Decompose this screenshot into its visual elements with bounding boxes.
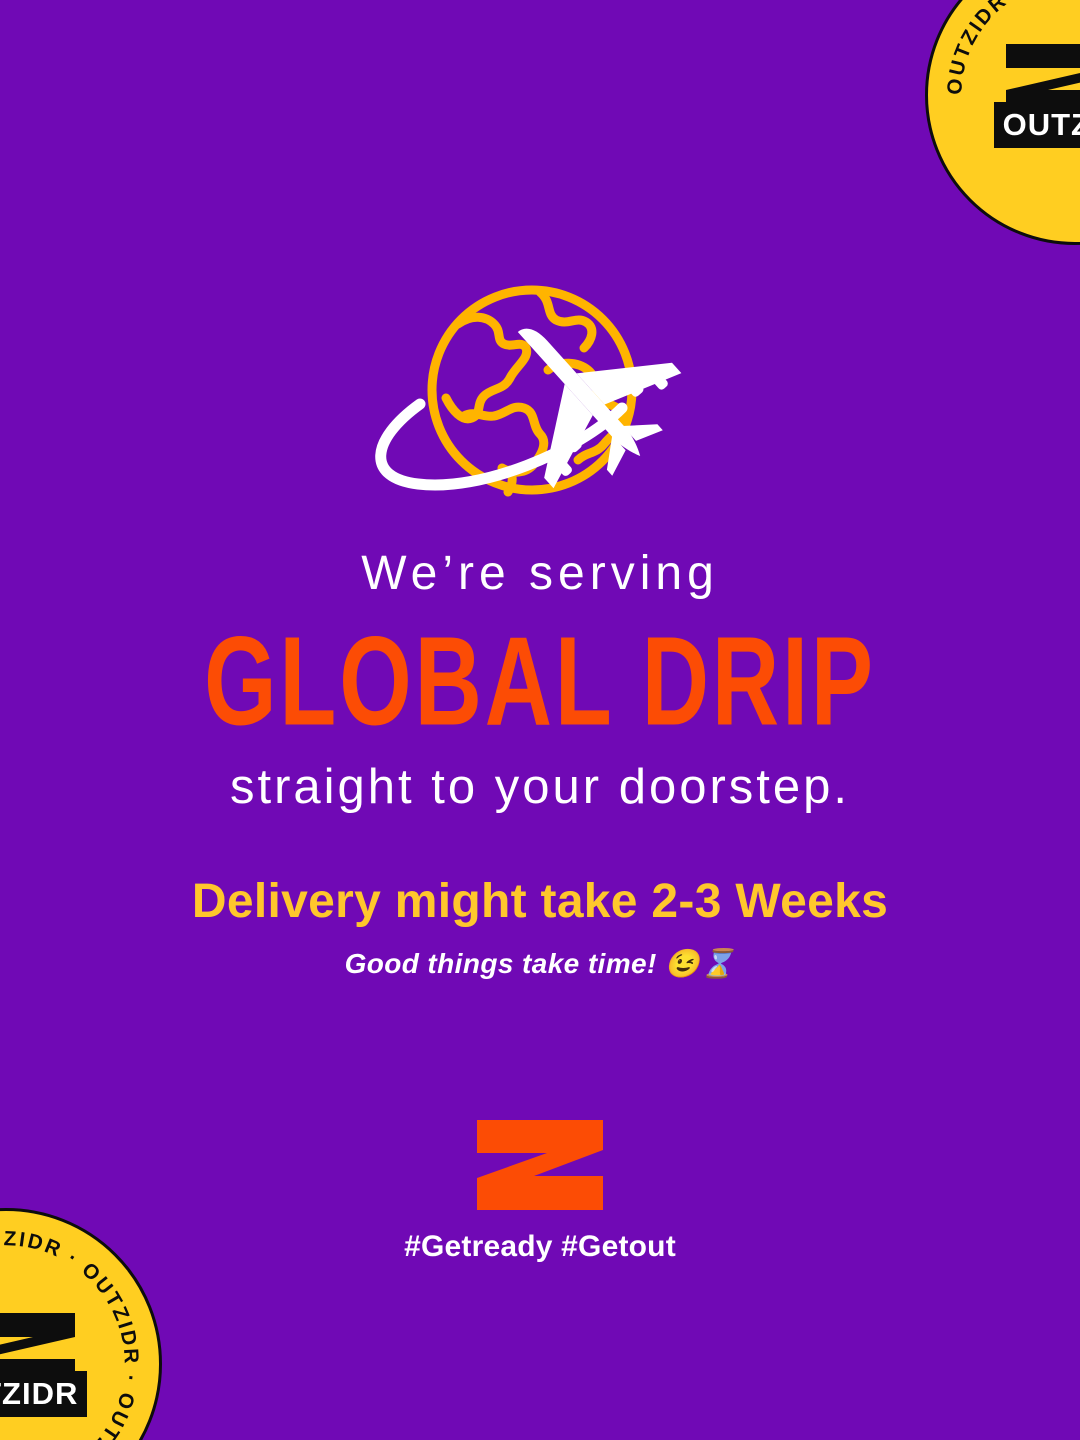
poster-canvas: OUTZIDR · OUTZIDR · OUTZIDR · OUTZIDR · …: [0, 0, 1080, 1440]
hashtags-label: #Getready #Getout: [0, 1230, 1080, 1264]
badge-wordmark: OUTZIDR: [994, 102, 1080, 148]
delivery-time-line: Delivery might take 2-3 Weeks: [0, 876, 1080, 929]
z-logo-icon: [477, 1120, 603, 1210]
serving-line: We’re serving: [0, 548, 1080, 601]
footer-block: #Getready #Getout: [0, 1120, 1080, 1264]
badge-top-right: OUTZIDR · OUTZIDR · OUTZIDR · OUTZIDR · …: [925, 0, 1080, 245]
headline-global-drip: GLOBAL DRIP: [16, 615, 1064, 749]
badge-wordmark: OUTZIDR: [0, 1371, 87, 1417]
badge-bottom-left: OUTZIDR · OUTZIDR · OUTZIDR · OUTZIDR · …: [0, 1208, 162, 1440]
copy-block: We’re serving GLOBAL DRIP straight to yo…: [0, 548, 1080, 981]
badge-inner-top-right: OUTZIDR: [980, 42, 1080, 148]
badge-inner-bottom-left: OUTZIDR: [0, 1311, 101, 1417]
globe-airplane-icon: [360, 278, 720, 508]
good-things-line: Good things take time! 😉⌛: [0, 947, 1080, 981]
doorstep-line: straight to your doorstep.: [0, 761, 1080, 815]
